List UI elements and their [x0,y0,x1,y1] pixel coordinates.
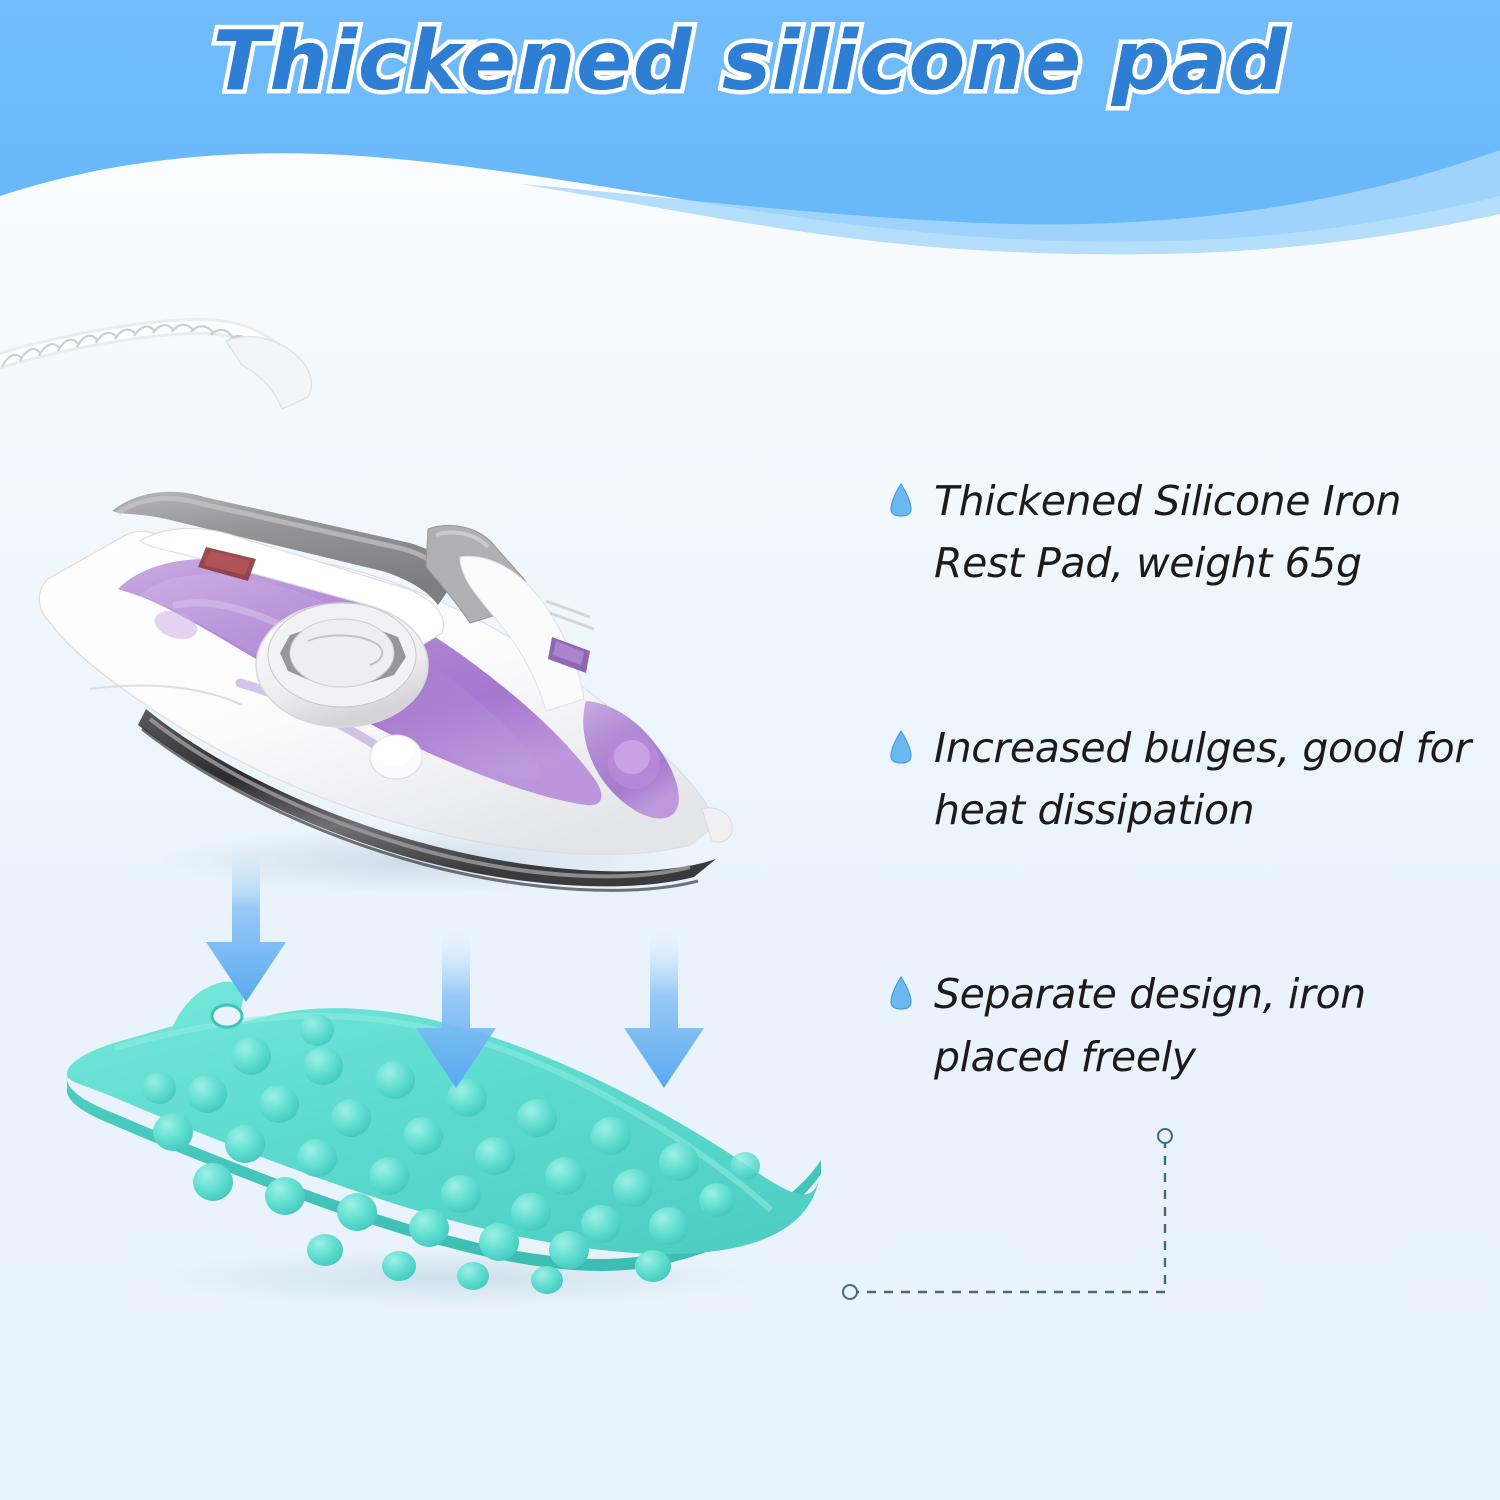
feature-list: Thickened Silicone Iron Rest Pad, weight… [890,470,1490,1210]
product-infographic: Thickened silicone pad Thickened silicon… [0,0,1500,1500]
spray-button-highlight [374,736,414,766]
iron-pad-bullet-icon [890,976,912,1010]
feature-text-3: Separate design, iron placed freely [934,963,1479,1088]
feature-item-1: Thickened Silicone Iron Rest Pad, weight… [890,470,1490,595]
callout-endpoint-start [843,1285,857,1299]
page-title: Thickened silicone pad [0,14,1500,109]
dial-inner [290,619,394,687]
silicone-pad-image [55,960,855,1320]
cord-sleeve [226,337,311,409]
feature-item-3: Separate design, iron placed freely [890,963,1490,1088]
iron-product-image [0,305,820,925]
iron-pad-bullet-icon [890,483,912,517]
hanging-hole [212,1005,242,1027]
iron-pad-bullet-icon [890,730,912,764]
feature-text-2: Increased bulges, good for heat dissipat… [934,717,1479,842]
feature-text-1: Thickened Silicone Iron Rest Pad, weight… [934,470,1479,595]
product-stage [0,260,880,1500]
header-banner: Thickened silicone pad Thickened silicon… [0,0,1500,260]
feature-item-2: Increased bulges, good for heat dissipat… [890,717,1490,842]
front-tip-detail [702,808,732,842]
spray-nozzle-inner [614,740,650,774]
